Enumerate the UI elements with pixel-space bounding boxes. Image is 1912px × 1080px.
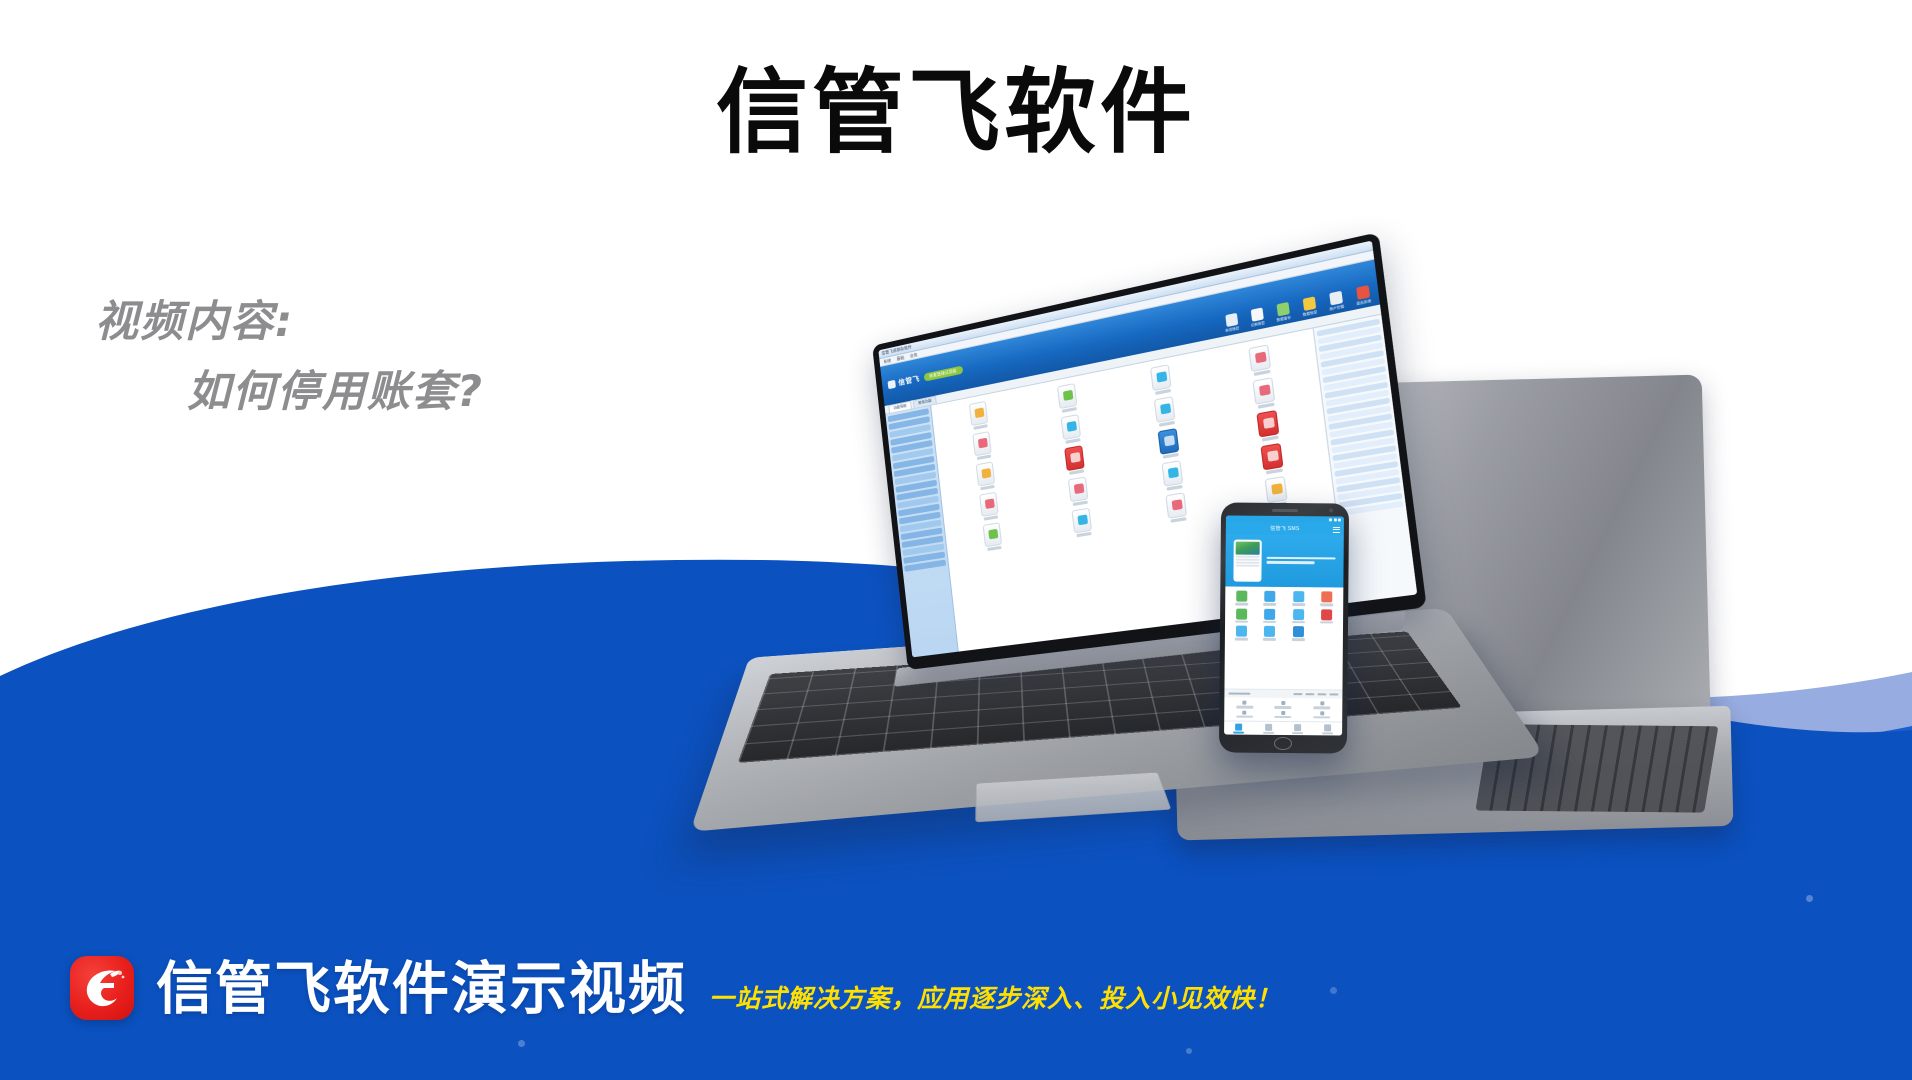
decor-dot (1330, 987, 1337, 994)
stat-value (1281, 710, 1285, 714)
stat-label (1313, 706, 1330, 709)
toolbar-button-restore[interactable]: 数据恢复 (1299, 296, 1319, 317)
exit-icon (1356, 285, 1370, 300)
stat-cell (1265, 710, 1302, 718)
receipt-icon (979, 492, 999, 517)
phone-earpiece (1272, 509, 1298, 512)
switch-account-icon (1250, 308, 1263, 322)
expense-icon (1161, 460, 1183, 487)
period-tab-month[interactable] (1317, 693, 1326, 696)
restore-icon (1302, 296, 1316, 311)
stat-cell (1226, 710, 1263, 718)
brand-name: 信管飞软件演示视频 (156, 961, 687, 1020)
period-tab-week[interactable] (1305, 693, 1314, 696)
phone-hero-banner (1225, 534, 1343, 587)
banner-copy-line (1267, 556, 1336, 559)
period-tab-today[interactable] (1293, 693, 1302, 696)
shortcut-label (1235, 638, 1248, 641)
banner-image (1236, 542, 1260, 555)
toolbar-button-backup[interactable]: 数据备份 (1273, 301, 1293, 322)
bank-ledger-icon (1264, 626, 1275, 637)
xinguanfei-bird-logo-icon (70, 956, 134, 1020)
footer-brand-bar: 信管飞软件演示视频 一站式解决方案，应用逐步深入、投入小见效快！ (70, 956, 1281, 1020)
sales-outbound-icon (1264, 591, 1275, 602)
shortcut-label (1235, 620, 1248, 623)
stat-cell (1304, 701, 1341, 709)
stat-value (1320, 711, 1324, 715)
backup-icon (1276, 302, 1289, 317)
smartphone-mockup: 信管飞 SMS (1219, 502, 1349, 753)
stat-label (1236, 706, 1253, 709)
stat-value (1243, 710, 1247, 714)
phone-shortcut-sales-return[interactable] (1284, 591, 1313, 606)
sales-order-icon (1061, 414, 1082, 440)
chart-icon (1294, 724, 1301, 731)
phone-front-camera-icon (1329, 508, 1333, 512)
purchase-inbound-icon (1264, 608, 1275, 619)
device-mockup-group: 信管飞进销存软件 系统 基础 业务 信管飞 账套管理试用版 (880, 385, 1900, 945)
stat-cell (1226, 700, 1263, 708)
shortcut-label (1235, 603, 1248, 606)
phone-home-button[interactable] (1274, 737, 1292, 750)
signal-icon (1333, 518, 1336, 521)
purchase-return-icon (1293, 609, 1304, 620)
toolbar-button-exit[interactable]: 退出系统 (1352, 284, 1373, 306)
shortcut-label (1263, 603, 1276, 606)
menu-item-basic[interactable]: 基础 (896, 354, 904, 362)
toolbar-button-switch-account[interactable]: 切换账套 (1247, 307, 1267, 328)
opening-stock-icon (983, 522, 1003, 547)
battery-icon (1338, 518, 1341, 521)
phone-shortcut-grid (1224, 586, 1343, 689)
banner-line (1236, 562, 1260, 564)
stat-cell (1304, 711, 1341, 719)
data-center-icon (1265, 723, 1272, 730)
ribbon-brand: 信管飞 (887, 374, 920, 391)
banner-copy-line (1267, 561, 1315, 564)
menu-item-system[interactable]: 系统 (883, 357, 891, 364)
nav-label (1233, 731, 1244, 733)
sales-return-icon (1293, 591, 1304, 602)
nav-label (1263, 731, 1274, 733)
banner-line (1236, 565, 1260, 567)
purchase-return-icon (1064, 445, 1085, 471)
phone-shortcut-other-inout[interactable] (1227, 626, 1256, 641)
phone-shortcut-bank-ledger[interactable] (1255, 626, 1284, 641)
phone-shortcut-sales-delivery[interactable] (1313, 591, 1342, 606)
brand-tagline: 一站式解决方案，应用逐步深入、投入小见效快！ (709, 986, 1281, 1020)
phone-shortcut-sales-order[interactable] (1227, 591, 1256, 606)
stat-label (1275, 715, 1292, 718)
section-period-tabs (1293, 693, 1338, 696)
phone-bottom-nav (1224, 720, 1342, 735)
home-icon (1235, 723, 1242, 730)
page-title: 信管飞软件 (0, 62, 1912, 163)
phone-shortcut-sales-outbound[interactable] (1256, 591, 1285, 606)
banner-phone-illustration-icon (1233, 540, 1261, 582)
phone-screen: 信管飞 SMS (1224, 515, 1344, 735)
video-content-block: 视频内容: 如何停用账套? (95, 288, 484, 427)
settings-icon (1265, 476, 1288, 503)
transfer-icon (1158, 428, 1180, 455)
shortcut-label (1263, 638, 1276, 641)
permissions-icon (1165, 492, 1187, 519)
shortcut-label (1292, 638, 1305, 641)
payment-icon (1068, 476, 1089, 502)
sales-return-icon (976, 461, 995, 486)
stat-value (1320, 701, 1324, 705)
goods-icon (969, 401, 988, 426)
stat-value (1281, 701, 1285, 705)
phone-shortcut-purchase-inbound[interactable] (1256, 608, 1285, 623)
nav-item-analytics[interactable] (1283, 723, 1313, 733)
stock-query-icon (1252, 377, 1275, 405)
report-center-icon (1260, 443, 1283, 471)
nav-item-data-center[interactable] (1254, 723, 1284, 733)
wifi-icon (1329, 518, 1332, 521)
toolbar-button-new-account[interactable]: 新增账套 (1222, 312, 1241, 333)
supplier-icon (1150, 364, 1172, 391)
customer-icon (1057, 383, 1077, 409)
decor-dot (1186, 1048, 1192, 1054)
nav-item-profile[interactable] (1313, 724, 1343, 734)
shortcut-label (1292, 621, 1305, 624)
video-content-label: 视频内容: (95, 288, 484, 358)
shortcut-label (1320, 621, 1333, 624)
decor-dot (518, 1040, 525, 1047)
nav-item-home[interactable] (1224, 723, 1254, 733)
stat-value (1243, 701, 1247, 705)
stat-label (1275, 706, 1292, 709)
delivery-note-icon (1321, 591, 1332, 602)
other-inout-icon (1236, 626, 1247, 637)
employee-icon (1248, 344, 1271, 372)
phone-shortcut-purchase-return[interactable] (1284, 609, 1313, 624)
phone-app-header: 信管飞 SMS (1226, 521, 1344, 535)
video-content-question: 如何停用账套? (95, 358, 484, 428)
nav-label (1322, 732, 1333, 734)
status-icons (1329, 518, 1341, 521)
hamburger-menu-icon[interactable] (1333, 525, 1340, 532)
section-title (1228, 692, 1250, 695)
grid-all-icon (1293, 626, 1304, 637)
ribbon-logo-icon (888, 380, 896, 389)
new-account-icon (1225, 313, 1238, 327)
period-tab-year[interactable] (1329, 693, 1338, 696)
ribbon-license-badge: 账套管理试用版 (923, 366, 963, 382)
user-icon (1324, 724, 1331, 731)
stat-cell (1265, 701, 1302, 709)
banner-line (1236, 559, 1260, 561)
presentation-slide: 信管飞软件 视频内容: 如何停用账套? 信管飞进销存软件 (0, 0, 1912, 1080)
stat-label (1313, 716, 1330, 719)
menu-item-business[interactable]: 业务 (910, 351, 918, 359)
nav-label (1292, 732, 1303, 734)
warehouse-icon (972, 431, 991, 456)
purchase-order-icon (1154, 396, 1176, 423)
sales-order-icon (1236, 591, 1247, 602)
shortcut-label (1292, 603, 1305, 606)
phone-shortcut-purchase-delivery[interactable] (1313, 609, 1342, 624)
purchase-delivery-icon (1321, 609, 1332, 620)
stat-label (1236, 715, 1253, 718)
banner-copy (1267, 556, 1336, 566)
ar-ap-icon (1071, 508, 1092, 534)
shortcut-label (1263, 620, 1276, 623)
front-laptop: 信管飞进销存软件 系统 基础 业务 信管飞 账套管理试用版 (880, 340, 1480, 860)
phone-shortcut-all[interactable] (1284, 626, 1313, 641)
toolbar-button-users[interactable]: 用户管理 (1326, 290, 1347, 312)
purchase-order-icon (1236, 608, 1247, 619)
stocktake-icon (1256, 410, 1279, 438)
phone-stats-grid (1224, 697, 1342, 721)
banner-line (1236, 556, 1260, 558)
phone-app-title: 信管飞 SMS (1270, 525, 1299, 532)
user-manage-icon (1329, 291, 1343, 306)
ribbon-brand-label: 信管飞 (898, 374, 920, 388)
shortcut-label (1320, 603, 1333, 606)
phone-shortcut-purchase-order[interactable] (1227, 608, 1256, 623)
